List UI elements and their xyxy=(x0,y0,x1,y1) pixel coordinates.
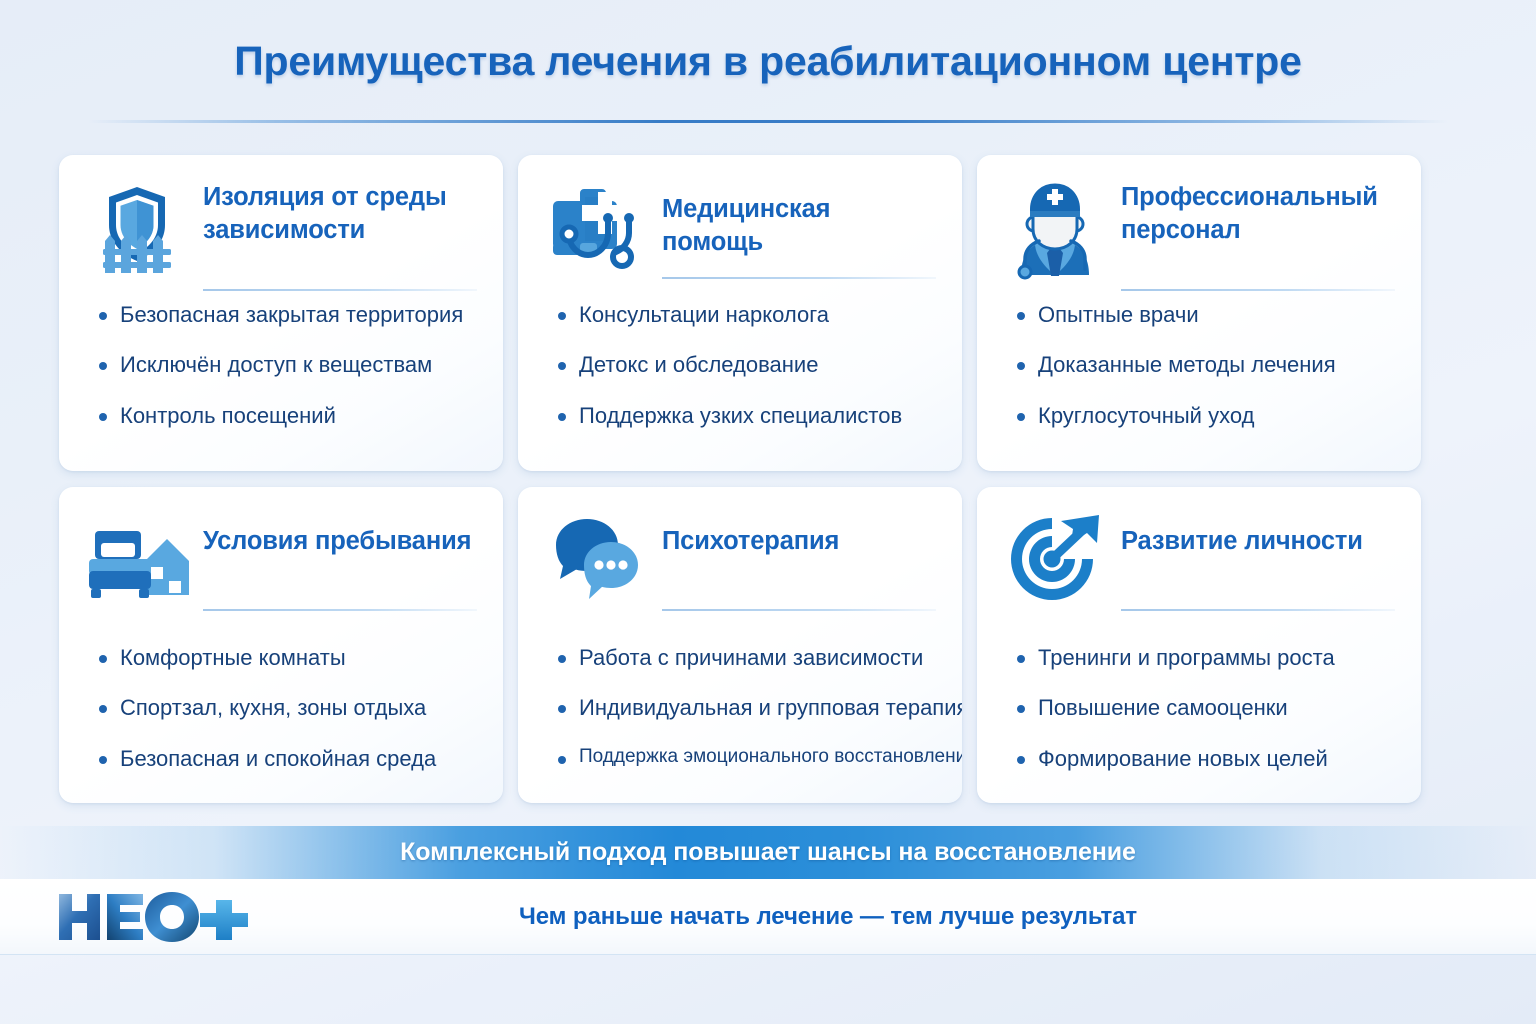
bullet-list: Тренинги и программы роста Повышение сам… xyxy=(1017,645,1399,772)
card-psychotherapy[interactable]: Психотерапия Работа с причинами зависимо… xyxy=(518,487,962,803)
bullet-list: Работа с причинами зависимости Индивидуа… xyxy=(558,645,940,769)
bullet-dot-icon xyxy=(558,756,566,764)
bullet-dot-icon xyxy=(99,362,107,370)
bullet-text: Круглосуточный уход xyxy=(1038,403,1254,429)
bullet-text: Комфортные комнаты xyxy=(120,645,346,671)
bullet-text: Поддержка эмоционального восстановления xyxy=(579,746,962,769)
target-arrow-icon xyxy=(1003,509,1107,613)
bullet-dot-icon xyxy=(99,413,107,421)
list-item: Поддержка эмоционального восстановления xyxy=(558,746,940,769)
card-title-divider xyxy=(662,277,936,279)
card-medical-help[interactable]: Медицинская помощь Консультации нарколог… xyxy=(518,155,962,471)
list-item: Индивидуальная и групповая терапия xyxy=(558,695,940,721)
list-item: Круглосуточный уход xyxy=(1017,403,1399,429)
footer: Комплексный подход повышает шансы на вос… xyxy=(0,826,1536,1024)
bullet-text: Детокс и обследование xyxy=(579,352,818,378)
list-item: Безопасная и спокойная среда xyxy=(99,746,481,772)
footer-tagline: Чем раньше начать лечение — тем лучше ре… xyxy=(280,879,1376,954)
bullet-text: Консультации нарколога xyxy=(579,302,829,328)
card-professional-staff[interactable]: Профессиональный персонал Опытные врачи … xyxy=(977,155,1421,471)
header-divider xyxy=(88,120,1448,123)
card-title-divider xyxy=(203,289,477,291)
list-item: Повышение самооценки xyxy=(1017,695,1399,721)
header: Преимущества лечения в реабилитационном … xyxy=(0,0,1536,122)
bullet-text: Безопасная и спокойная среда xyxy=(120,746,436,772)
bullet-list: Безопасная закрытая территория Исключён … xyxy=(99,302,481,429)
bullet-text: Опытные врачи xyxy=(1038,302,1199,328)
bullet-dot-icon xyxy=(558,655,566,663)
bullet-text: Поддержка узких специалистов xyxy=(579,403,902,429)
list-item: Комфортные комнаты xyxy=(99,645,481,671)
bullet-text: Индивидуальная и групповая терапия xyxy=(579,695,962,721)
speech-bubbles-icon xyxy=(544,509,648,613)
bullet-list: Опытные врачи Доказанные методы лечения … xyxy=(1017,302,1399,429)
card-title-divider xyxy=(1121,289,1395,291)
card-living-conditions[interactable]: Условия пребывания Комфортные комнаты Сп… xyxy=(59,487,503,803)
bullet-list: Консультации нарколога Детокс и обследов… xyxy=(558,302,940,429)
bullet-dot-icon xyxy=(558,312,566,320)
card-title: Изоляция от среды зависимости xyxy=(203,181,479,246)
card-title: Условия пребывания xyxy=(203,525,479,558)
page-title: Преимущества лечения в реабилитационном … xyxy=(0,38,1536,85)
bullet-dot-icon xyxy=(99,705,107,713)
medical-bag-stethoscope-icon xyxy=(544,177,648,281)
list-item: Тренинги и программы роста xyxy=(1017,645,1399,671)
bullet-dot-icon xyxy=(1017,756,1025,764)
infographic-page: Преимущества лечения в реабилитационном … xyxy=(0,0,1536,1024)
card-title: Развитие личности xyxy=(1121,525,1397,558)
list-item: Работа с причинами зависимости xyxy=(558,645,940,671)
bullet-dot-icon xyxy=(558,362,566,370)
list-item: Спортзал, кухня, зоны отдыха xyxy=(99,695,481,721)
benefits-grid: Изоляция от среды зависимости Безопасная… xyxy=(59,155,1477,803)
card-personal-development[interactable]: Развитие личности Тренинги и программы р… xyxy=(977,487,1421,803)
card-header: Медицинская помощь xyxy=(544,177,938,285)
card-header: Развитие личности xyxy=(1003,509,1397,617)
bullet-text: Доказанные методы лечения xyxy=(1038,352,1336,378)
bullet-text: Безопасная закрытая территория xyxy=(120,302,463,328)
card-title-divider xyxy=(662,609,936,611)
card-header: Изоляция от среды зависимости xyxy=(85,177,479,285)
bullet-text: Формирование новых целей xyxy=(1038,746,1328,772)
bullet-text: Тренинги и программы роста xyxy=(1038,645,1335,671)
bullet-dot-icon xyxy=(1017,312,1025,320)
doctor-icon xyxy=(1003,177,1107,281)
bullet-dot-icon xyxy=(99,312,107,320)
card-title-divider xyxy=(203,609,477,611)
list-item: Исключён доступ к веществам xyxy=(99,352,481,378)
list-item: Опытные врачи xyxy=(1017,302,1399,328)
bullet-dot-icon xyxy=(558,413,566,421)
bullet-list: Комфортные комнаты Спортзал, кухня, зоны… xyxy=(99,645,481,772)
list-item: Безопасная закрытая территория xyxy=(99,302,481,328)
footer-banner-text: Комплексный подход повышает шансы на вос… xyxy=(400,838,1136,867)
bullet-dot-icon xyxy=(558,705,566,713)
card-header: Условия пребывания xyxy=(85,509,479,617)
card-header: Профессиональный персонал xyxy=(1003,177,1397,285)
list-item: Контроль посещений xyxy=(99,403,481,429)
card-header: Психотерапия xyxy=(544,509,938,617)
bullet-dot-icon xyxy=(1017,362,1025,370)
bullet-dot-icon xyxy=(1017,655,1025,663)
bullet-text: Спортзал, кухня, зоны отдыха xyxy=(120,695,426,721)
card-isolation[interactable]: Изоляция от среды зависимости Безопасная… xyxy=(59,155,503,471)
bed-house-icon xyxy=(85,509,189,613)
footer-banner: Комплексный подход повышает шансы на вос… xyxy=(0,826,1536,879)
list-item: Формирование новых целей xyxy=(1017,746,1399,772)
bullet-text: Работа с причинами зависимости xyxy=(579,645,923,671)
shield-fence-icon xyxy=(85,177,189,281)
neo-plus-logo xyxy=(55,886,255,948)
list-item: Детокс и обследование xyxy=(558,352,940,378)
bullet-text: Повышение самооценки xyxy=(1038,695,1288,721)
card-title-divider xyxy=(1121,609,1395,611)
list-item: Консультации нарколога xyxy=(558,302,940,328)
bullet-text: Контроль посещений xyxy=(120,403,336,429)
card-title: Медицинская помощь xyxy=(662,193,938,258)
bullet-dot-icon xyxy=(1017,413,1025,421)
bullet-dot-icon xyxy=(99,655,107,663)
list-item: Доказанные методы лечения xyxy=(1017,352,1399,378)
bullet-text: Исключён доступ к веществам xyxy=(120,352,432,378)
bullet-dot-icon xyxy=(1017,705,1025,713)
card-title: Профессиональный персонал xyxy=(1121,181,1397,246)
bullet-dot-icon xyxy=(99,756,107,764)
card-title: Психотерапия xyxy=(662,525,938,558)
list-item: Поддержка узких специалистов xyxy=(558,403,940,429)
